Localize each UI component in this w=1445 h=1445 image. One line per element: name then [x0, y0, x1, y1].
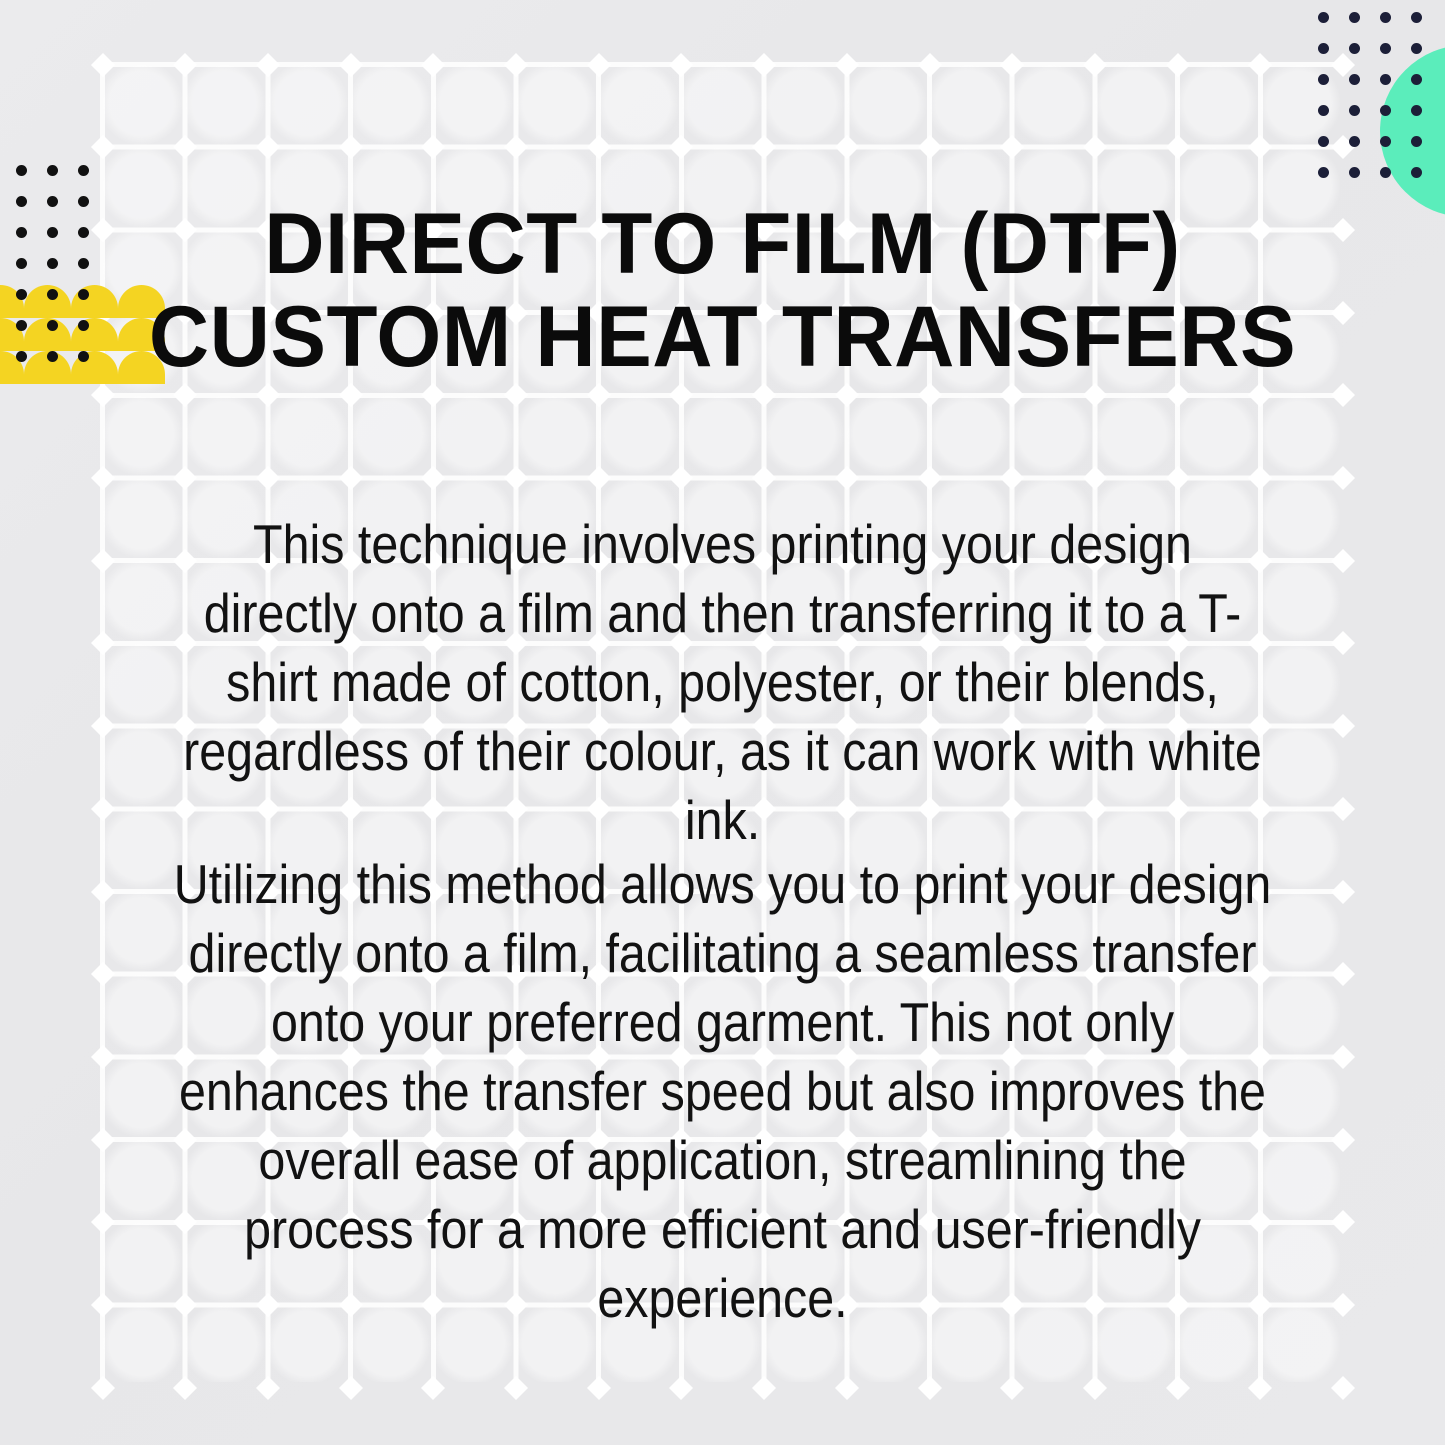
page-title: DIRECT TO FILM (DTF) CUSTOM HEAT TRANSFE… — [128, 198, 1316, 384]
body-paragraph-1: This technique involves printing your de… — [170, 510, 1274, 855]
poster-content: DIRECT TO FILM (DTF) CUSTOM HEAT TRANSFE… — [0, 0, 1445, 1445]
poster-canvas: DIRECT TO FILM (DTF) CUSTOM HEAT TRANSFE… — [0, 0, 1445, 1445]
body-paragraph-2: Utilizing this method allows you to prin… — [170, 850, 1274, 1333]
title-line-2: CUSTOM HEAT TRANSFERS — [128, 291, 1316, 384]
title-line-1: DIRECT TO FILM (DTF) — [128, 198, 1316, 291]
